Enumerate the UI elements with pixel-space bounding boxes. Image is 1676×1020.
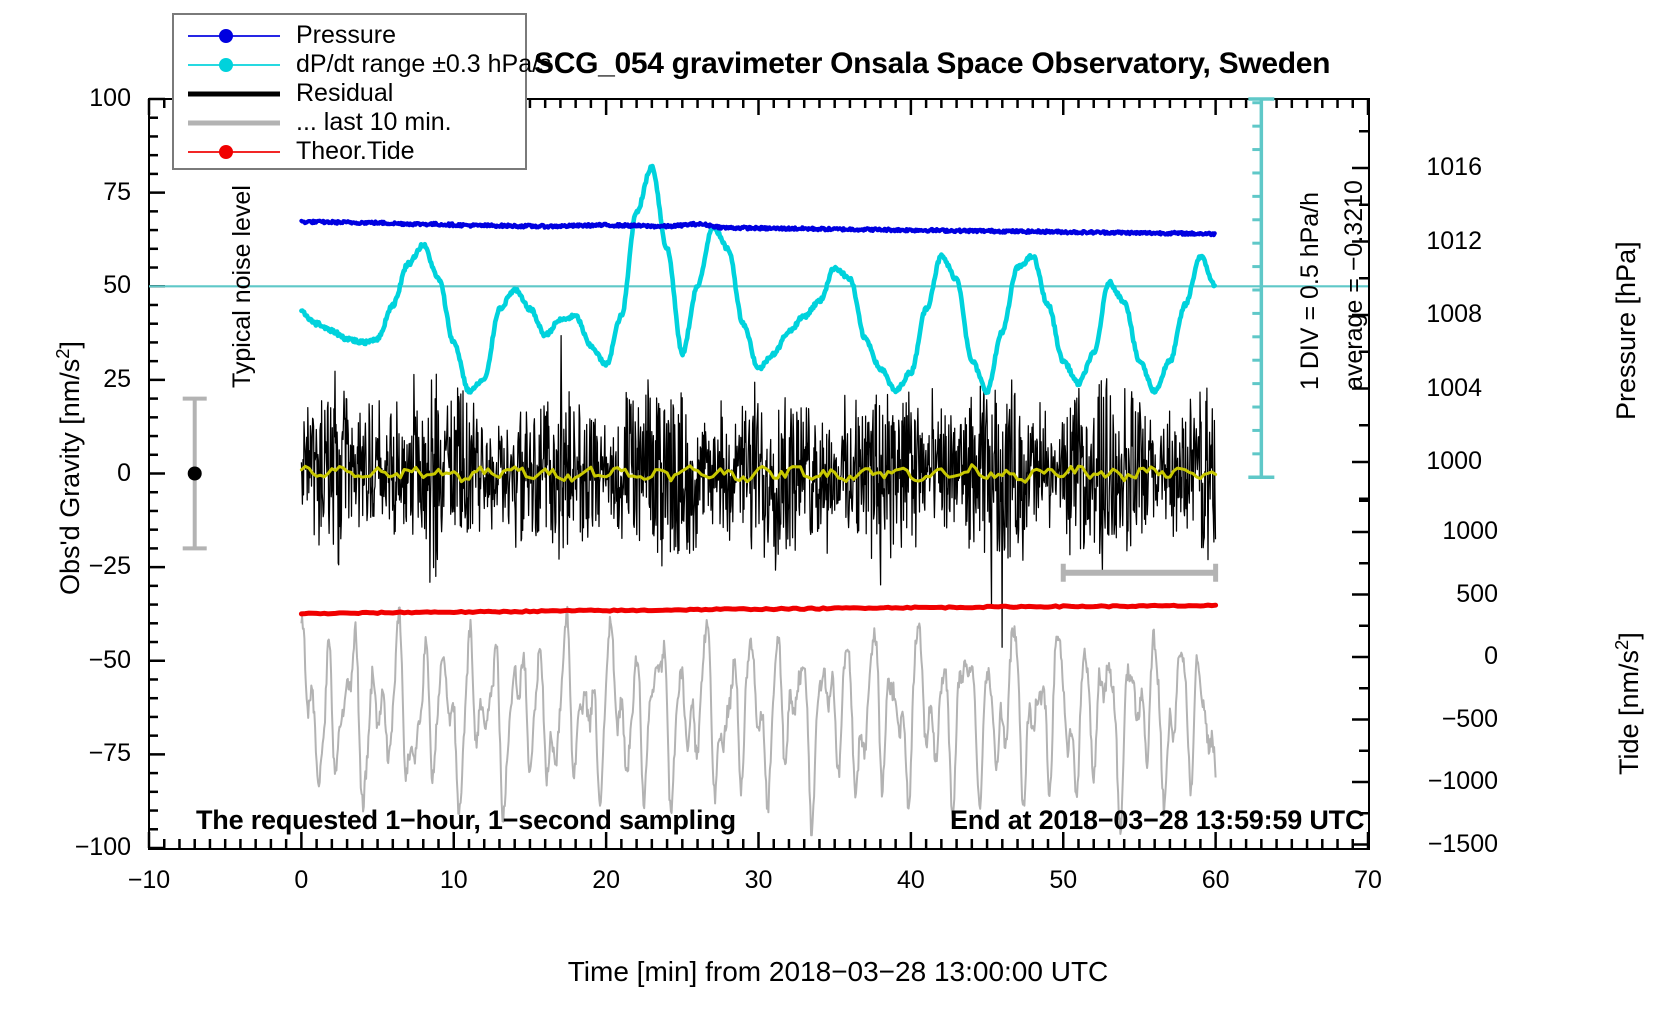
pressure-tick-label: 1016	[1390, 153, 1482, 182]
legend-marker-dot	[219, 29, 233, 43]
y-axis-title-pressure-text: Pressure [hPa]	[1611, 241, 1641, 420]
y-tick-label: 50	[0, 271, 131, 300]
y-tick-label: −75	[0, 739, 131, 768]
x-axis-title: Time [min] from 2018−03−28 13:00:00 UTC	[0, 956, 1676, 988]
legend-item-1[interactable]: dP/dt range ±0.3 hPa/s	[174, 50, 525, 79]
legend-line	[188, 91, 280, 96]
legend-item-label: dP/dt range ±0.3 hPa/s	[280, 50, 552, 79]
tide-tick-label: 0	[1390, 642, 1498, 671]
y-axis-title-left-text: Obs'd Gravity [nm/s2]	[55, 341, 85, 595]
legend-item-4[interactable]: Theor.Tide	[174, 137, 525, 166]
legend-marker-dot	[219, 58, 233, 72]
y-axis-title-tide-text: Tide [nm/s2]	[1614, 632, 1644, 775]
chart-root: −100−75−50−250255075100 −100102030405060…	[0, 0, 1676, 1020]
tide-tick-label: 1000	[1390, 517, 1498, 546]
pressure-tick-label: 1004	[1390, 374, 1482, 403]
pressure-tick-label: 1000	[1390, 447, 1482, 476]
legend-swatch-icon	[188, 84, 280, 104]
y-tick-label: 100	[0, 84, 131, 113]
y-axis-title-tide: Tide [nm/s2]	[1611, 632, 1645, 775]
end-time-note: End at 2018−03−28 13:59:59 UTC	[950, 805, 1364, 836]
x-tick-label: 60	[1156, 866, 1276, 895]
chart-legend: PressuredP/dt range ±0.3 hPa/sResidual..…	[172, 13, 527, 170]
legend-swatch-icon	[188, 142, 280, 162]
legend-item-label: Residual	[280, 79, 393, 108]
legend-line	[188, 120, 280, 125]
div-scale-label: 1 DIV = 0.5 hPa/h	[1296, 192, 1325, 390]
tide-tick-label: −1500	[1390, 830, 1498, 859]
legend-line	[188, 151, 280, 153]
average-label: average = −0.3210	[1340, 180, 1369, 390]
tide-tick-label: −1000	[1390, 767, 1498, 796]
tide-tick-label: −500	[1390, 705, 1498, 734]
legend-swatch-icon	[188, 113, 280, 133]
plot-frame	[148, 98, 1370, 850]
y-tick-label: 75	[0, 178, 131, 207]
legend-marker-dot	[219, 145, 233, 159]
x-tick-label: 0	[241, 866, 361, 895]
legend-swatch-icon	[188, 26, 280, 46]
y-axis-title-pressure: Pressure [hPa]	[1611, 241, 1642, 420]
pressure-tick-label: 1012	[1390, 227, 1482, 256]
typical-noise-level-label: Typical noise level	[228, 185, 257, 388]
legend-swatch-icon	[188, 55, 280, 75]
x-tick-label: 40	[851, 866, 971, 895]
x-tick-label: −10	[89, 866, 209, 895]
legend-item-label: Pressure	[280, 21, 396, 50]
y-tick-label: −100	[0, 833, 131, 862]
tide-tick-label: 500	[1390, 580, 1498, 609]
y-axis-title-left: Obs'd Gravity [nm/s2]	[52, 341, 86, 595]
legend-item-2[interactable]: Residual	[174, 79, 525, 108]
x-tick-label: 10	[394, 866, 514, 895]
legend-item-3[interactable]: ... last 10 min.	[174, 108, 525, 137]
sampling-note: The requested 1−hour, 1−second sampling	[196, 805, 736, 836]
x-tick-label: 70	[1308, 866, 1428, 895]
legend-line	[188, 64, 280, 66]
legend-line	[188, 35, 280, 37]
legend-item-label: Theor.Tide	[280, 137, 415, 166]
legend-item-0[interactable]: Pressure	[174, 21, 525, 50]
x-tick-label: 50	[1003, 866, 1123, 895]
x-tick-label: 20	[546, 866, 666, 895]
legend-item-label: ... last 10 min.	[280, 108, 452, 137]
chart-title: SCG_054 gravimeter Onsala Space Observat…	[534, 47, 1330, 81]
y-tick-label: −50	[0, 646, 131, 675]
pressure-tick-label: 1008	[1390, 300, 1482, 329]
x-tick-label: 30	[699, 866, 819, 895]
